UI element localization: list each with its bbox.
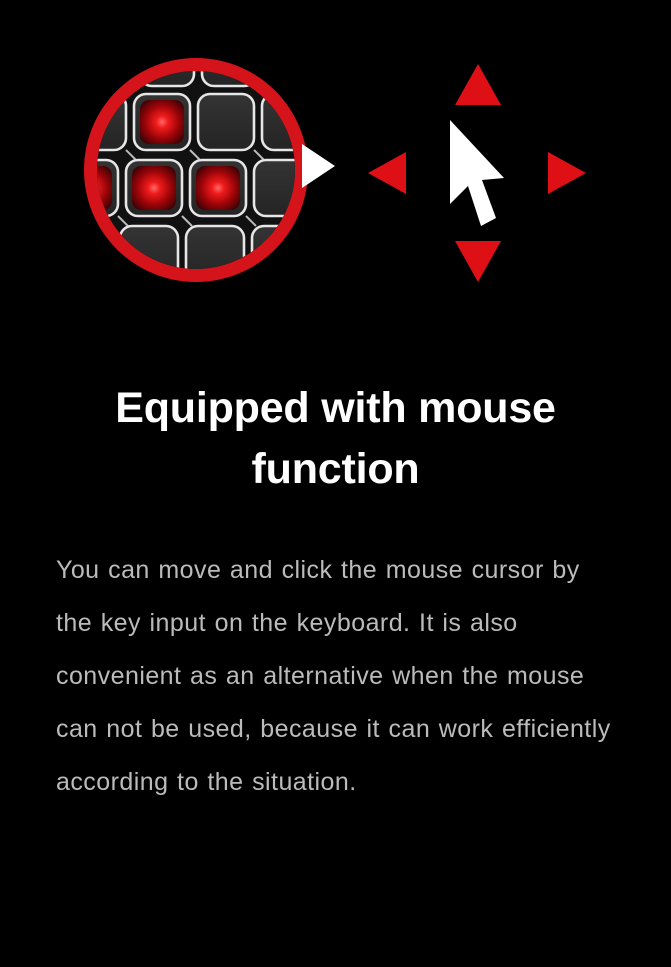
arrow-right-icon	[548, 152, 586, 194]
magnifier-graphic	[84, 58, 340, 290]
arrow-left-icon	[368, 152, 406, 194]
text-content: Equipped with mouse function You can mov…	[0, 330, 671, 809]
arrow-down-icon	[455, 241, 501, 282]
magnifier-pointer-icon	[302, 144, 335, 188]
page-title: Equipped with mouse function	[56, 378, 615, 500]
feature-card: Equipped with mouse function You can mov…	[0, 0, 671, 967]
arrow-up-icon	[455, 64, 501, 105]
keyboard-keys-icon	[84, 58, 308, 282]
body-description: You can move and click the mouse cursor …	[56, 544, 615, 809]
hero-illustration	[0, 0, 671, 330]
mouse-cursor-icon	[446, 118, 508, 230]
direction-pad-graphic	[366, 60, 588, 286]
magnifier-lens-icon	[84, 58, 308, 282]
